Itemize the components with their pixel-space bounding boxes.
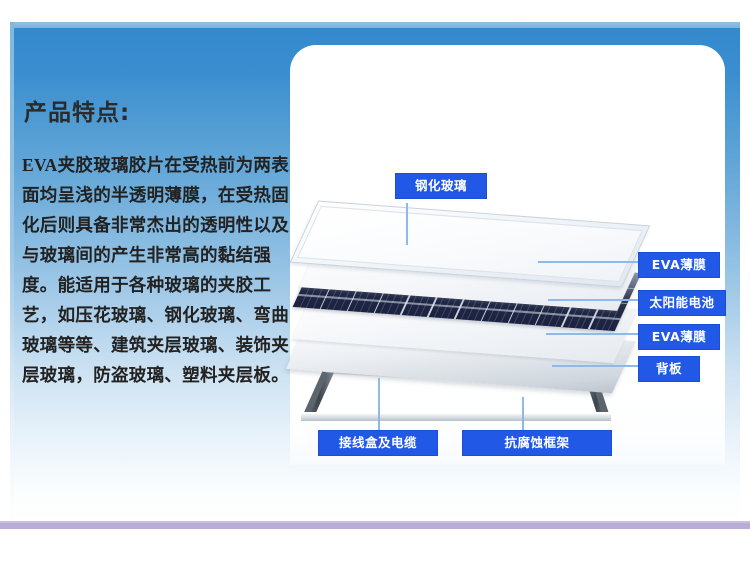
page-title: 产品特点: [24,93,130,127]
product-description-text: EVA夹胶玻璃胶片在受热前为两表面均呈浅的半透明薄膜，在受热固化后则具备非常杰出… [22,150,290,390]
label-eva-film-bottom[interactable]: EVA薄膜 [638,324,720,350]
panel-left-rim [10,22,14,522]
leader-line-tempered-glass [406,203,408,245]
product-description: EVA夹胶玻璃胶片在受热前为两表面均呈浅的半透明薄膜，在受热固化后则具备非常杰出… [22,150,290,390]
label-junction-box-cable[interactable]: 接线盒及电缆 [318,430,438,456]
leader-line-eva-bottom [546,333,638,335]
solar-panel-exploded-diagram: 钢化玻璃 EVA薄膜 太阳能电池 EVA薄膜 背板 接线盒及电缆 抗腐蚀框架 [290,45,725,465]
leader-line-solar-cell [548,299,638,301]
label-solar-cell[interactable]: 太阳能电池 [638,290,726,316]
label-back-sheet[interactable]: 背板 [638,356,700,382]
panel-top-rim [10,22,740,28]
label-tempered-glass[interactable]: 钢化玻璃 [395,173,487,199]
leader-line-junction-box [378,378,380,430]
leader-line-eva-top [538,261,638,263]
leader-line-frame [522,397,524,430]
bottom-accent-strip-highlight [0,521,750,523]
label-anti-corrosion-frame[interactable]: 抗腐蚀框架 [462,430,612,456]
label-eva-film-top[interactable]: EVA薄膜 [638,252,720,278]
leader-line-back-sheet [552,365,638,367]
product-feature-banner: 产品特点: EVA夹胶玻璃胶片在受热前为两表面均呈浅的半透明薄膜，在受热固化后则… [0,0,750,564]
